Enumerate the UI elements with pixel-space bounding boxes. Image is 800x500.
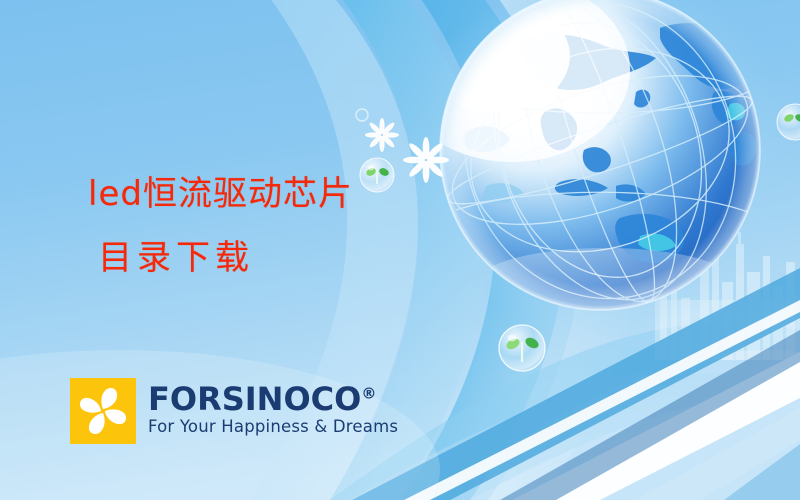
four-petal-pinwheel-icon [70, 378, 136, 444]
promo-banner: led恒流驱动芯片 目录下载 FORSINOCO® For Your Happi… [0, 0, 800, 500]
logo-wordmark-text: FORSINOCO [148, 380, 361, 418]
logo-text-block: FORSINOCO® For Your Happiness & Dreams [148, 378, 398, 437]
bubble-sprout-lower [499, 325, 545, 371]
bubble-sprout-upper [360, 158, 394, 192]
logo-wordmark: FORSINOCO® [148, 382, 398, 416]
logo-tagline: For Your Happiness & Dreams [148, 417, 398, 437]
headline-line-2: 目录下载 [98, 226, 353, 290]
brand-logo: FORSINOCO® For Your Happiness & Dreams [70, 378, 398, 444]
registered-trademark-icon: ® [361, 384, 376, 402]
page-title: led恒流驱动芯片 目录下载 [88, 162, 353, 290]
headline-line-1: led恒流驱动芯片 [88, 174, 353, 214]
logo-mark [70, 378, 136, 444]
